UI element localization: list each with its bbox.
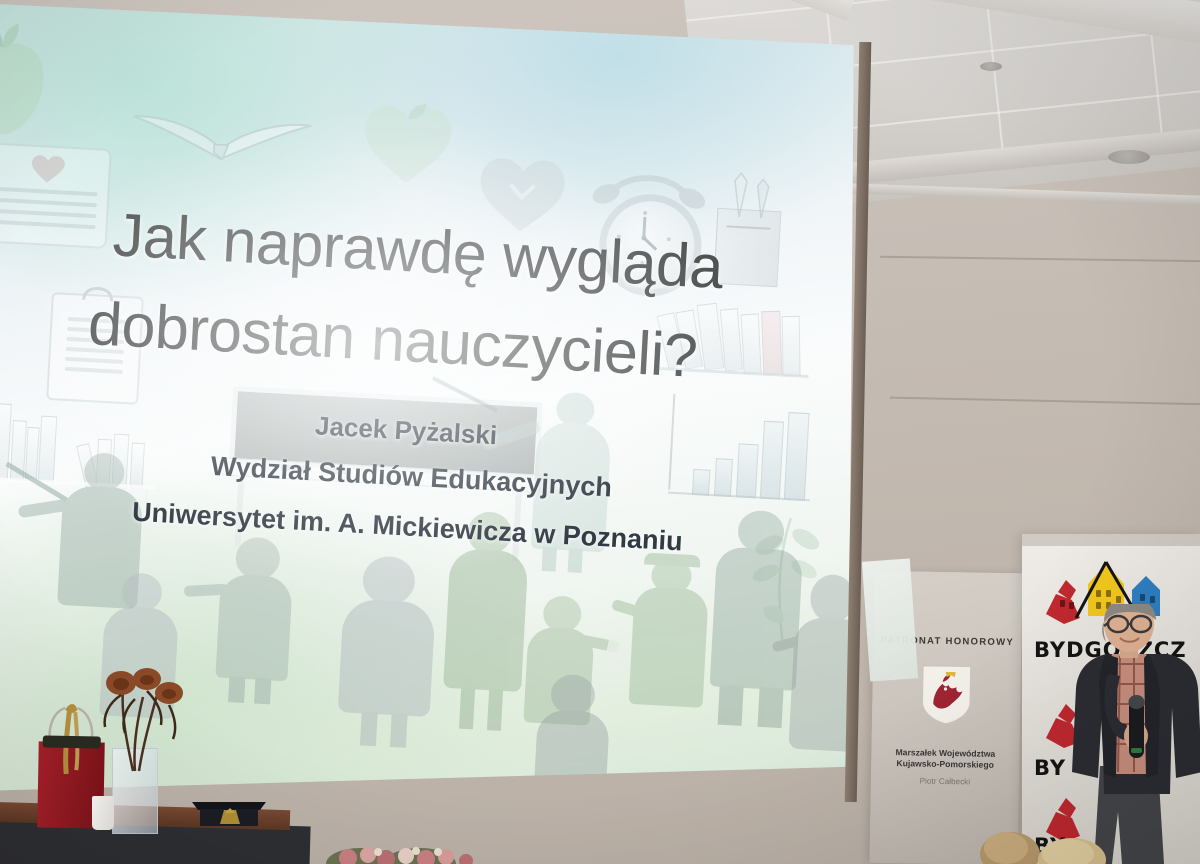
patronage-office: Marszałek Województwa Kujawsko-Pomorskie… [871,747,1019,772]
note-card-heart-icon [0,142,112,249]
open-book-icon [125,88,319,168]
flower-arrangement [320,838,500,864]
photo-scene: Jak naprawdę wygląda dobrostan nauczycie… [0,0,1200,864]
coat-of-arms-icon [920,664,973,725]
paper-cup [92,796,114,830]
audience-heads [980,820,1110,864]
slide-title-line2: dobrostan nauczycieli? [86,288,698,391]
downlight-icon-1 [980,62,1002,71]
heart-apple-icon [360,101,454,188]
chart-bar [692,469,710,496]
handheld-microphone-icon [1129,695,1145,758]
rose-vase [112,748,158,834]
patronage-banner-glare [862,558,918,681]
patronage-person: Piotr Całbecki [871,776,1019,788]
downlight-icon-2 [1108,150,1150,164]
graduation-cap [190,796,268,826]
pencils-icon [727,170,779,219]
chart-bar [736,443,759,498]
chart-bar [784,412,810,501]
alarm-clock-bells-icon [589,171,709,211]
chart-bar [714,458,733,497]
chart-bar [760,421,784,500]
